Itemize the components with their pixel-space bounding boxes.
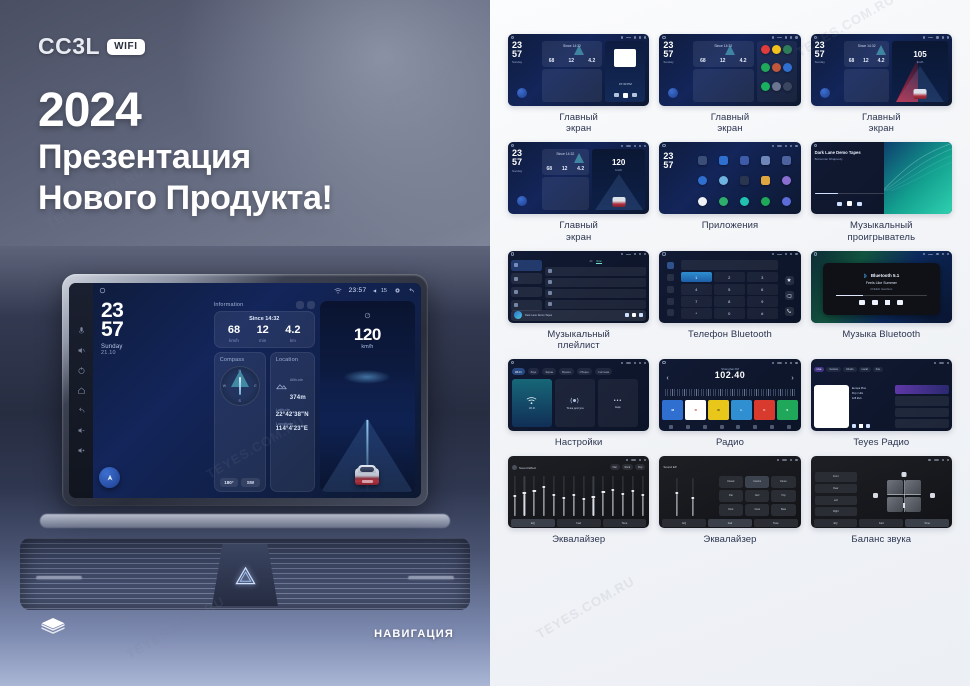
app-icon-maps[interactable]: [772, 45, 781, 54]
tune-up-icon[interactable]: ›: [791, 375, 793, 382]
navigation-fab[interactable]: [99, 467, 120, 488]
dialpad-key[interactable]: 5: [714, 284, 746, 295]
navigation-fab[interactable]: [668, 88, 678, 98]
compass-cone: [725, 45, 735, 55]
hero-headline: 2024 Презентация Нового Продукта!: [38, 85, 332, 220]
information-since: Since 14:32: [220, 316, 309, 322]
road-horizon-glow: [343, 370, 391, 384]
backspace-icon[interactable]: [785, 291, 794, 300]
call-icon[interactable]: [785, 307, 794, 316]
settings-cards[interactable]: Wi-Fi Точка доступа ••• Ещё: [512, 379, 645, 427]
speed-gauge-icon: [364, 312, 371, 319]
next-icon[interactable]: [639, 313, 643, 317]
gallery-item-home-media[interactable]: 23 57 Sunday Since 14:32 68 12: [508, 34, 649, 134]
effect-rock[interactable]: Rock: [719, 504, 743, 516]
stat-speed-unit: km/h: [228, 338, 240, 343]
back-icon[interactable]: [77, 406, 86, 415]
thumbnail-home-apps[interactable]: 23 57 Sunday Since 14:32 68 12: [659, 34, 800, 106]
preset-3[interactable]: D: [708, 400, 729, 420]
prev-icon[interactable]: [859, 300, 865, 305]
tab-playing[interactable]: Now: [596, 260, 601, 264]
playback-controls[interactable]: [815, 201, 885, 206]
eq-band[interactable]: [552, 476, 555, 516]
track-artist: Bohemian Rhapsody: [815, 157, 885, 161]
thumb-clock-minutes: 57: [512, 158, 539, 167]
compass-cone: [876, 45, 886, 55]
balance-pad[interactable]: [873, 472, 935, 516]
mini-compass-card: [844, 69, 889, 102]
effect-classic[interactable]: Classic: [719, 476, 743, 488]
speaker-front-left[interactable]: [887, 480, 903, 495]
app-contacts[interactable]: [714, 172, 733, 190]
tab-live[interactable]: Live: [814, 367, 825, 372]
eq-band[interactable]: [641, 476, 644, 516]
tab-time[interactable]: Время: [559, 368, 573, 375]
speed-unit: km/h: [320, 344, 415, 350]
sidebar-item-albums[interactable]: [511, 273, 542, 284]
app-icon-music[interactable]: [772, 63, 781, 72]
dock-scan-icon[interactable]: [720, 425, 724, 429]
mini-stat-2: 12: [720, 58, 726, 64]
app-radio[interactable]: [777, 192, 796, 210]
sidebar-item-search[interactable]: [667, 286, 674, 293]
stat-distance-value: 4.2: [285, 325, 300, 336]
status-bar: 23:57 15: [93, 283, 421, 298]
home-screen-body: 23 57 Sunday 21.10: [93, 298, 421, 498]
dialpad-key[interactable]: 0: [714, 308, 746, 319]
app-wifi[interactable]: [693, 151, 712, 169]
app-camera[interactable]: [777, 151, 796, 169]
gallery-item-phone[interactable]: 1 2 3 4 5 6 7 8 9 * 0 #: [659, 251, 800, 351]
radio-presets[interactable]: M R D L C S: [662, 400, 797, 420]
thumbnail-bluetooth-music[interactable]: Bluetooth 5.1 Feels Like Summer Childish…: [811, 251, 952, 323]
stop-icon[interactable]: [623, 93, 628, 98]
media-controls[interactable]: [605, 93, 645, 98]
preset-2[interactable]: R: [685, 400, 706, 420]
eq-preset-rock[interactable]: Rock: [622, 464, 633, 470]
clock-widget[interactable]: 23 57 Sunday 21.10: [99, 301, 209, 356]
eq-preset-pop[interactable]: Pop: [635, 464, 645, 470]
list-item[interactable]: [545, 300, 647, 309]
pause-icon[interactable]: [847, 201, 852, 206]
balance-right-icon[interactable]: [930, 493, 935, 498]
mini-status-bar: [811, 359, 952, 366]
volume-down-icon[interactable]: [77, 426, 86, 435]
app-icon-spotify[interactable]: [761, 63, 770, 72]
thumbnail-teyes-radio[interactable]: Live Genres Charts Local Fav Europa Plus…: [811, 359, 952, 431]
effect-dance[interactable]: Dance: [771, 476, 795, 488]
dialpad-key[interactable]: 1: [681, 272, 713, 283]
information-expand-icon[interactable]: [307, 301, 315, 309]
prev-icon[interactable]: [625, 313, 629, 317]
eq-band[interactable]: [562, 476, 565, 516]
dock-eq-button[interactable]: EQ: [662, 519, 706, 527]
apps-grid[interactable]: [693, 151, 795, 210]
eq-effect-buttons[interactable]: Classic Custom Dance Flat Jazz Pop Rock …: [719, 476, 796, 516]
app-musicplayer[interactable]: [735, 192, 754, 210]
dialpad-key[interactable]: 7: [681, 296, 713, 307]
volume-up-icon[interactable]: [77, 446, 86, 455]
app-icon-more[interactable]: [783, 82, 792, 91]
app-filemanager[interactable]: [756, 172, 775, 190]
navigation-fab[interactable]: [517, 196, 527, 206]
app-bluetooth-music[interactable]: [735, 151, 754, 169]
radio-dock[interactable]: [662, 423, 797, 430]
dock-fader-button[interactable]: Fad: [708, 519, 752, 527]
dock-search-icon[interactable]: [686, 425, 690, 429]
app-chrome[interactable]: [693, 172, 712, 190]
thumbnail-equalizer-2[interactable]: Sound Eff Classic Custom Dance Flat Jazz…: [659, 456, 800, 528]
tab-charts[interactable]: Charts: [843, 367, 857, 372]
compass-readout: 180° SW: [220, 478, 260, 487]
thumb-body: 23 57 Sunday Since 14:32 68 12: [815, 41, 948, 102]
status-volume[interactable]: 15: [373, 288, 387, 294]
station-list[interactable]: [895, 385, 949, 428]
tab-sound[interactable]: Звук: [528, 368, 540, 375]
eq-presets[interactable]: Flat Rock Pop: [610, 464, 646, 470]
thumb-clock-minutes: 57: [815, 50, 842, 59]
stop-icon[interactable]: [859, 424, 863, 428]
eq-band[interactable]: [592, 476, 595, 516]
eq-preset-flat[interactable]: Flat: [610, 464, 620, 470]
playback-controls[interactable]: [859, 300, 903, 305]
gallery-item-equalizer[interactable]: Sound Effect Flat Rock Pop: [508, 456, 649, 545]
thumbnail-settings[interactable]: Wi-Fi Звук Экран Время Общие Система Wi-…: [508, 359, 649, 431]
thumb-widgets: Since 14:32 68 12 4.2: [844, 41, 889, 102]
dialpad-key[interactable]: 9: [747, 296, 779, 307]
dock-eq-icon[interactable]: [770, 425, 774, 429]
eq-band[interactable]: [582, 476, 585, 516]
eq-tone-sliders[interactable]: [669, 478, 700, 516]
playback-controls[interactable]: [625, 313, 643, 317]
bass-slider[interactable]: [676, 478, 679, 516]
clock-panel: 23 57 Sunday 21.10: [99, 301, 209, 492]
compass-north-label: N: [238, 369, 241, 373]
gallery-caption: Музыка Bluetooth: [842, 329, 920, 340]
gallery-item-player[interactable]: Dark Lane Demo Tapes Bohemian Rhapsody М…: [811, 142, 952, 242]
next-icon[interactable]: [632, 93, 637, 97]
mini-status-bar: [659, 34, 800, 41]
location-widget[interactable]: Location Altitude 374m: [270, 352, 315, 493]
caption-line-2: экран: [566, 123, 591, 134]
app-icon-video[interactable]: [783, 63, 792, 72]
tune-down-icon[interactable]: ‹: [666, 375, 668, 382]
effect-custom[interactable]: Custom: [745, 476, 769, 488]
treble-slider[interactable]: [691, 478, 694, 516]
power-icon[interactable]: [77, 366, 86, 375]
balance-readouts: Front Rear Left Right: [815, 472, 857, 516]
location-longitude-row: Longitude 114°4'23"E: [276, 421, 309, 432]
progress-bar[interactable]: [815, 193, 885, 194]
dialpad-key[interactable]: 4: [681, 284, 713, 295]
tab-local[interactable]: Local: [859, 367, 871, 372]
gallery-caption: Музыкальный плейлист: [547, 329, 610, 351]
compass-cone: [574, 45, 584, 55]
thumbnail-home-drive[interactable]: 23 57 Sunday Since 14:32 68 12: [811, 34, 952, 106]
gallery-item-home-speed[interactable]: 23 57 Sunday Since 14:32 68 12: [508, 142, 649, 242]
tab-all[interactable]: All: [589, 260, 592, 264]
gallery-item-radio[interactable]: Shanghai FM 102.40 ‹ › M R D L C S: [659, 359, 800, 448]
home-icon[interactable]: [77, 386, 86, 395]
next-icon[interactable]: [866, 424, 870, 428]
list-item[interactable]: [895, 408, 949, 417]
tab-system[interactable]: Система: [595, 368, 612, 375]
eq-dock[interactable]: EQ Fad Tone: [511, 519, 646, 527]
teyes-radio-tabs[interactable]: Live Genres Charts Local Fav: [814, 367, 949, 372]
app-maps[interactable]: [714, 192, 733, 210]
gallery-item-home-apps[interactable]: 23 57 Sunday Since 14:32 68 12: [659, 34, 800, 134]
dock-fader-button[interactable]: Fad: [557, 519, 601, 527]
eq-band[interactable]: [533, 476, 536, 516]
now-playing-bar[interactable]: Dark Lane Demo Tapes: [511, 310, 646, 321]
eq-dock[interactable]: EQ Fad Tone: [814, 519, 949, 527]
mini-information-card: Since 14:32 68 12 4.2: [693, 41, 754, 67]
playlist-rows[interactable]: AllNow: [545, 260, 647, 309]
tab-genres[interactable]: Genres: [826, 367, 841, 372]
caption-line-1: Радио: [716, 437, 744, 448]
dock-tone-button[interactable]: Tone: [905, 519, 949, 527]
mini-stat-1: 68: [547, 166, 553, 172]
sidebar-item-history[interactable]: [667, 298, 674, 305]
avatar: [514, 311, 522, 319]
speaker-rear-left[interactable]: [887, 497, 903, 512]
prev-icon[interactable]: [614, 93, 619, 97]
station-name: Europa Plus: [852, 387, 892, 390]
caption-line-1: Музыкальный: [850, 220, 913, 231]
gallery-item-apps[interactable]: 23 57: [659, 142, 800, 242]
effect-bass[interactable]: Bass: [771, 504, 795, 516]
eq-band[interactable]: [631, 476, 634, 516]
dialpad-key[interactable]: 2: [714, 272, 746, 283]
stat-speed: 68 km/h: [228, 325, 240, 343]
app-icon-navi[interactable]: [783, 45, 792, 54]
stop-icon[interactable]: [885, 300, 890, 305]
information-widget[interactable]: Information Since 14:32: [214, 301, 315, 348]
dialer[interactable]: 1 2 3 4 5 6 7 8 9 * 0 #: [681, 260, 779, 319]
eq-band[interactable]: [513, 476, 516, 516]
station-bitrate: 128 kb/s: [852, 397, 892, 400]
playlist-tabs[interactable]: AllNow: [545, 260, 647, 265]
car-rear-glass: [360, 467, 374, 472]
list-item[interactable]: [545, 289, 647, 298]
thumbnail-equalizer[interactable]: Sound Effect Flat Rock Pop: [508, 456, 649, 528]
effect-vocal[interactable]: Vocal: [745, 504, 769, 516]
app-icon-play[interactable]: [761, 82, 770, 91]
gallery-item-balance[interactable]: Front Rear Left Right: [811, 456, 952, 545]
gallery-caption: Настройки: [555, 437, 602, 448]
station-meta: Europa Plus Pop / Hits 128 kb/s: [852, 385, 892, 428]
mic-icon[interactable]: [77, 326, 86, 335]
balance-up-icon[interactable]: [901, 472, 906, 477]
playlist-sidebar[interactable]: [511, 260, 542, 311]
eq-band[interactable]: [543, 476, 546, 516]
thumb-clock-sub: Sunday: [815, 60, 842, 64]
dock-eq-button[interactable]: EQ: [814, 519, 858, 527]
dock-list-icon[interactable]: [703, 425, 707, 429]
mute-icon[interactable]: [77, 346, 86, 355]
next-icon[interactable]: [857, 202, 862, 206]
thumbnail-playlist[interactable]: AllNow Dark Lane Demo Tapes: [508, 251, 649, 323]
speaker-rear-right[interactable]: [905, 497, 921, 512]
effect-flat[interactable]: Flat: [719, 490, 743, 502]
eq-band-sliders[interactable]: [513, 476, 644, 516]
station-artwork: [814, 385, 849, 428]
sidebar-item-contacts[interactable]: [667, 274, 674, 281]
eq-icon: [512, 465, 517, 470]
mini-app-shortcuts[interactable]: [757, 41, 797, 102]
list-item[interactable]: [895, 396, 949, 405]
balance-rear: Rear: [815, 484, 857, 493]
gallery-item-playlist[interactable]: AllNow Dark Lane Demo Tapes: [508, 251, 649, 351]
tab-general[interactable]: Общие: [577, 368, 592, 375]
compass-south-label: S: [239, 399, 241, 403]
gallery-item-teyes-radio[interactable]: Live Genres Charts Local Fav Europa Plus…: [811, 359, 952, 448]
eq-band[interactable]: [523, 476, 526, 516]
gallery-item-settings[interactable]: Wi-Fi Звук Экран Время Общие Система Wi-…: [508, 359, 649, 448]
gallery-caption: Приложения: [702, 220, 759, 231]
preset-6[interactable]: S: [777, 400, 798, 420]
layers-icon[interactable]: [40, 617, 66, 642]
thumb-body: 23 57 Sunday Since 14:32 68 12: [512, 41, 645, 102]
sidebar-item-favorites[interactable]: [511, 287, 542, 298]
sidebar-item-settings[interactable]: [667, 309, 674, 316]
dock-eq-button[interactable]: EQ: [511, 519, 555, 527]
compass-direction: SW: [241, 478, 260, 487]
progress-bar[interactable]: [836, 295, 928, 296]
app-dvr[interactable]: [735, 172, 754, 190]
preset-4[interactable]: L: [731, 400, 752, 420]
dock-tone-button[interactable]: Tone: [603, 519, 647, 527]
dialpad-key[interactable]: 8: [714, 296, 746, 307]
gallery-item-equalizer-2[interactable]: Sound Eff Classic Custom Dance Flat Jazz…: [659, 456, 800, 545]
head-unit-display[interactable]: 23:57 15: [93, 283, 421, 498]
mini-stat-2: 12: [863, 58, 869, 64]
information-actions[interactable]: [296, 301, 315, 309]
effect-jazz[interactable]: Jazz: [745, 490, 769, 502]
app-icon-apps[interactable]: [772, 82, 781, 91]
pause-icon[interactable]: [632, 313, 636, 317]
dialpad-key[interactable]: #: [747, 308, 779, 319]
thumbnail-home-media[interactable]: 23 57 Sunday Since 14:32 68 12: [508, 34, 649, 106]
prev-icon[interactable]: [837, 202, 842, 206]
thumbnail-music-player[interactable]: Dark Lane Demo Tapes Bohemian Rhapsody: [811, 142, 952, 214]
gallery-item-home-drive[interactable]: 23 57 Sunday Since 14:32 68 12: [811, 34, 952, 134]
gallery-caption: Главный экран: [711, 112, 750, 134]
effect-pop[interactable]: Pop: [771, 490, 795, 502]
dock-settings-icon[interactable]: [787, 425, 791, 429]
eq-dock[interactable]: EQ Fad Tone: [662, 519, 797, 527]
next-icon[interactable]: [897, 300, 903, 305]
list-item[interactable]: [545, 278, 647, 287]
status-home-button[interactable]: [99, 287, 106, 294]
navigation-fab[interactable]: [517, 88, 527, 98]
frequency-scale[interactable]: [665, 389, 794, 396]
dialpad[interactable]: 1 2 3 4 5 6 7 8 9 * 0 #: [681, 272, 779, 319]
thumbnail-radio[interactable]: Shanghai FM 102.40 ‹ › M R D L C S: [659, 359, 800, 431]
preset-1[interactable]: M: [662, 400, 683, 420]
dock-fav-icon[interactable]: [753, 425, 757, 429]
track-title: Dark Lane Demo Tapes: [815, 150, 885, 155]
information-stats: 68 km/h 12 min: [220, 325, 309, 343]
mini-media-card: 07:30 PM: [605, 41, 645, 102]
eq-band[interactable]: [612, 476, 615, 516]
now-playing-title: Dark Lane Demo Tapes: [525, 314, 552, 317]
phone-sidebar[interactable]: [662, 260, 678, 319]
thumbnail-home-speed[interactable]: 23 57 Sunday Since 14:32 68 12: [508, 142, 649, 214]
speaker-front-right[interactable]: [905, 480, 921, 495]
dialpad-key[interactable]: 6: [747, 284, 779, 295]
dialer-actions[interactable]: [781, 273, 798, 319]
car-illustration: [913, 89, 926, 99]
tab-display[interactable]: Экран: [542, 368, 556, 375]
sidebar-item-dialpad[interactable]: [667, 262, 674, 269]
app-calculator[interactable]: [756, 151, 775, 169]
play-pause-icon[interactable]: [872, 300, 878, 305]
mini-status-bar: [811, 34, 952, 41]
album-artwork: [884, 142, 952, 214]
eq-band[interactable]: [602, 476, 605, 516]
settings-card-wifi[interactable]: Wi-Fi: [512, 379, 552, 427]
thumbnail-sound-balance[interactable]: Front Rear Left Right: [811, 456, 952, 528]
compass-cone: [574, 153, 584, 163]
dock-home-icon[interactable]: [669, 425, 673, 429]
app-gallery[interactable]: [777, 172, 796, 190]
list-item[interactable]: [545, 267, 647, 276]
list-item[interactable]: [895, 385, 949, 394]
settings-tabs[interactable]: Wi-Fi Звук Экран Время Общие Система: [512, 368, 645, 375]
app-icon-youtube[interactable]: [761, 45, 770, 54]
dialpad-key[interactable]: *: [681, 308, 713, 319]
location-latitude-value: 22°42'38"N: [276, 412, 309, 418]
dock-tone-button[interactable]: Tone: [754, 519, 798, 527]
navigation-fab[interactable]: [820, 88, 830, 98]
thumb-body: 23 57 Sunday Since 14:32 68 12: [512, 149, 645, 210]
thumbnail-bluetooth-phone[interactable]: 1 2 3 4 5 6 7 8 9 * 0 #: [659, 251, 800, 323]
sidebar-item-tracks[interactable]: [511, 260, 542, 271]
mini-status-bar: [508, 359, 649, 366]
caption-line-1: Teyes Радио: [853, 437, 909, 448]
caption-line-1: Главный: [559, 220, 598, 231]
dialpad-key[interactable]: 3: [747, 272, 779, 283]
gallery-item-btmusic[interactable]: Bluetooth 5.1 Feels Like Summer Childish…: [811, 251, 952, 351]
speed-readout: 120 km/h: [320, 308, 415, 350]
playback-controls[interactable]: [852, 424, 892, 428]
eq-band[interactable]: [572, 476, 575, 516]
information-settings-icon[interactable]: [296, 301, 304, 309]
prev-icon[interactable]: [852, 424, 856, 428]
radio-tuner: Shanghai FM 102.40: [659, 367, 800, 381]
tab-favorites[interactable]: Fav: [873, 367, 883, 372]
balance-left-icon[interactable]: [873, 493, 878, 498]
add-contact-icon[interactable]: [785, 276, 794, 285]
tab-wifi[interactable]: Wi-Fi: [512, 368, 525, 375]
eq-band[interactable]: [621, 476, 624, 516]
settings-card-hotspot[interactable]: Точка доступа: [555, 379, 595, 427]
dock-band-icon[interactable]: [736, 425, 740, 429]
thumbnail-apps[interactable]: 23 57: [659, 142, 800, 214]
navigation-arrow-icon: [105, 473, 115, 483]
list-item[interactable]: [895, 419, 949, 428]
settings-card-more[interactable]: ••• Ещё: [598, 379, 638, 427]
app-bluetooth[interactable]: [714, 151, 733, 169]
preset-5[interactable]: C: [754, 400, 775, 420]
hardware-button-rail[interactable]: [69, 283, 93, 498]
driving-view-widget[interactable]: 120 km/h: [320, 301, 415, 492]
dock-fader-button[interactable]: Fad: [859, 519, 903, 527]
compass-widget[interactable]: Compass N S W E: [214, 352, 266, 493]
app-playstore[interactable]: [756, 192, 775, 210]
app-google[interactable]: [693, 192, 712, 210]
